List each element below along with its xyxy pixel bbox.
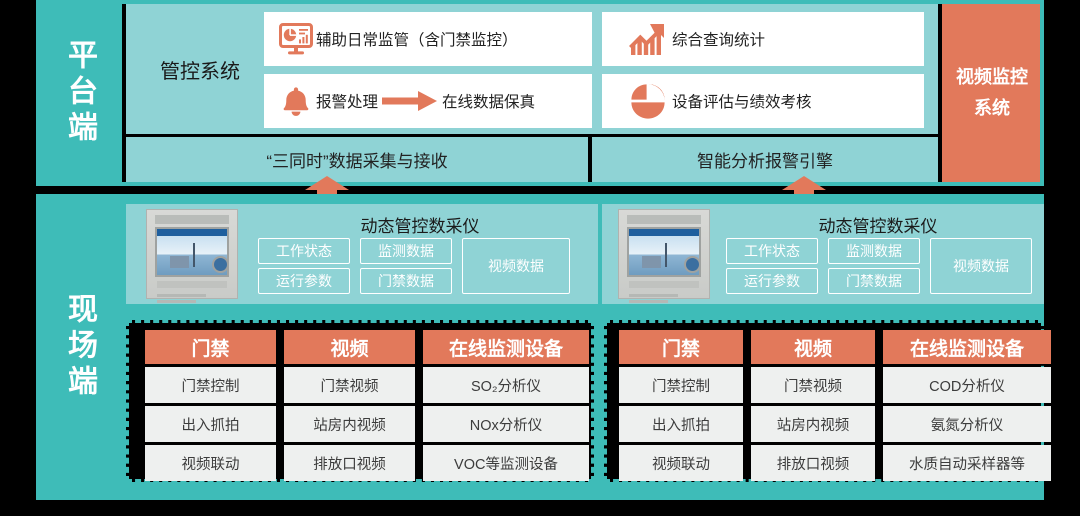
collector-title-left: 动态管控数采仪	[250, 212, 590, 237]
platform-side-label: 平台端	[36, 4, 122, 182]
data-acquisition-terminal-photo-right	[618, 209, 710, 299]
card-daily-supervision[interactable]: 辅助日常监管（含门禁监控）	[264, 12, 592, 66]
management-system-title: 管控系统	[140, 10, 260, 128]
field-group-left: 门禁 门禁控制 出入抓拍 视频联动 视频 门禁视频 站房内视频 排放口视频 在线…	[126, 320, 594, 482]
table-column-access-left: 门禁 门禁控制 出入抓拍 视频联动	[145, 330, 276, 481]
table-header-video-left: 视频	[284, 330, 415, 364]
field-side-label: 现场端	[36, 198, 122, 496]
band-analysis-engine-label: 智能分析报警引擎	[697, 147, 833, 172]
table-cell: COD分析仪	[883, 367, 1051, 403]
tag-access-data-right[interactable]: 门禁数据	[828, 268, 920, 294]
table-cell: 门禁控制	[145, 367, 276, 403]
table-cell: 门禁视频	[751, 367, 875, 403]
tag-monitoring-data-right[interactable]: 监测数据	[828, 238, 920, 264]
field-side-label-text: 现场端	[64, 293, 94, 401]
pie-chart-icon	[624, 83, 672, 119]
table-cell: SO₂分析仪	[423, 367, 589, 403]
table-column-video-right: 视频 门禁视频 站房内视频 排放口视频	[751, 330, 875, 481]
table-cell: 出入抓拍	[619, 406, 743, 442]
table-cell: 排放口视频	[284, 445, 415, 481]
table-column-online-monitoring-left: 在线监测设备 SO₂分析仪 NOx分析仪 VOC等监测设备	[423, 330, 589, 481]
card-alarm-processing-label: 报警处理	[316, 90, 378, 112]
table-cell: 站房内视频	[751, 406, 875, 442]
table-cell: 视频联动	[145, 445, 276, 481]
monitor-chart-icon	[276, 23, 316, 55]
table-header-online-monitoring-right: 在线监测设备	[883, 330, 1051, 364]
table-cell: 门禁控制	[619, 367, 743, 403]
card-alarm-processing[interactable]: 报警处理 在线数据保真	[264, 74, 592, 128]
table-column-access-right: 门禁 门禁控制 出入抓拍 视频联动	[619, 330, 743, 481]
table-cell: 视频联动	[619, 445, 743, 481]
field-bottom-rule	[36, 496, 1044, 500]
bell-icon	[276, 85, 316, 117]
card-daily-supervision-label: 辅助日常监管（含门禁监控）	[316, 28, 518, 50]
collector-panel-left: 动态管控数采仪 工作状态 监测数据 运行参数 门禁数据 视频数据	[126, 204, 598, 304]
field-group-right: 门禁 门禁控制 出入抓拍 视频联动 视频 门禁视频 站房内视频 排放口视频 在线…	[604, 320, 1044, 482]
platform-side-label-text: 平台端	[64, 39, 94, 147]
card-equipment-assessment-label: 设备评估与绩效考核	[672, 90, 812, 112]
band-data-collection: “三同时”数据采集与接收	[126, 134, 588, 182]
table-header-access-left: 门禁	[145, 330, 276, 364]
band-analysis-engine: 智能分析报警引擎	[592, 134, 938, 182]
tag-video-data-right[interactable]: 视频数据	[930, 238, 1032, 294]
band-divider	[588, 134, 592, 182]
video-monitoring-system-line1: 视频监控	[956, 62, 1028, 93]
card-query-statistics-label: 综合查询统计	[672, 28, 765, 50]
platform-panel: 管控系统 辅助日常监管（含门禁监控）	[126, 4, 938, 182]
tag-monitoring-data-left[interactable]: 监测数据	[360, 238, 452, 264]
video-monitoring-system-line2: 系统	[956, 93, 1028, 124]
growth-chart-icon	[624, 22, 672, 56]
table-cell: 出入抓拍	[145, 406, 276, 442]
card-online-data-fidelity-label: 在线数据保真	[442, 90, 535, 112]
tag-access-data-left[interactable]: 门禁数据	[360, 268, 452, 294]
tag-operating-params-left[interactable]: 运行参数	[258, 268, 350, 294]
data-acquisition-terminal-photo-left	[146, 209, 238, 299]
table-header-video-right: 视频	[751, 330, 875, 364]
diagram-canvas: 平台端 管控系统	[0, 0, 1080, 516]
table-header-access-right: 门禁	[619, 330, 743, 364]
table-column-video-left: 视频 门禁视频 站房内视频 排放口视频	[284, 330, 415, 481]
table-cell: 水质自动采样器等	[883, 445, 1051, 481]
table-cell: 门禁视频	[284, 367, 415, 403]
card-query-statistics[interactable]: 综合查询统计	[602, 12, 924, 66]
tag-operating-params-right[interactable]: 运行参数	[726, 268, 818, 294]
band-data-collection-label: “三同时”数据采集与接收	[266, 147, 447, 172]
right-arrow-icon	[378, 90, 442, 112]
video-monitoring-system[interactable]: 视频监控 系统	[942, 4, 1042, 182]
tag-work-status-left[interactable]: 工作状态	[258, 238, 350, 264]
platform-bottom-rule	[36, 182, 1044, 186]
field-top-rule	[36, 194, 1044, 198]
tag-work-status-right[interactable]: 工作状态	[726, 238, 818, 264]
table-cell: 排放口视频	[751, 445, 875, 481]
table-cell: 氨氮分析仪	[883, 406, 1051, 442]
table-column-online-monitoring-right: 在线监测设备 COD分析仪 氨氮分析仪 水质自动采样器等	[883, 330, 1051, 481]
card-equipment-assessment[interactable]: 设备评估与绩效考核	[602, 74, 924, 128]
platform-top-rule	[36, 0, 1044, 4]
table-cell: NOx分析仪	[423, 406, 589, 442]
tag-video-data-left[interactable]: 视频数据	[462, 238, 570, 294]
collector-panel-right: 动态管控数采仪 工作状态 监测数据 运行参数 门禁数据 视频数据	[602, 204, 1044, 304]
table-header-online-monitoring-left: 在线监测设备	[423, 330, 589, 364]
table-cell: 站房内视频	[284, 406, 415, 442]
platform-right-rule	[1040, 0, 1044, 186]
collector-title-right: 动态管控数采仪	[718, 212, 1038, 237]
table-cell: VOC等监测设备	[423, 445, 589, 481]
